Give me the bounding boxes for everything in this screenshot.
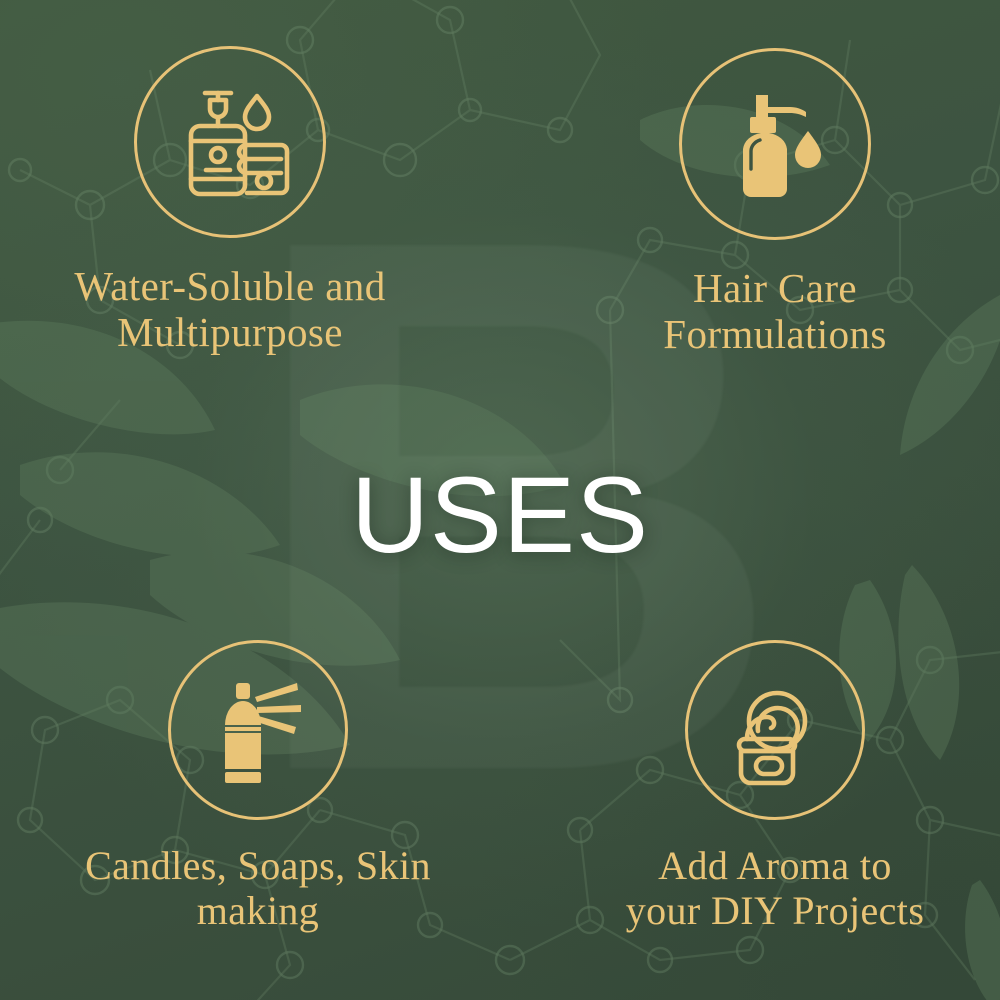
- use-item-candles-soaps-skin[interactable]: Candles, Soaps, Skin making: [28, 640, 488, 934]
- cream-jar-icon: [714, 669, 836, 791]
- use-item-diy-aroma[interactable]: Add Aroma to your DIY Projects: [545, 640, 1000, 934]
- use-item-label-water-soluble: Water-Soluble and Multipurpose: [74, 264, 385, 356]
- page-title: USES: [0, 452, 1000, 577]
- icon-badge-candles-soaps-skin: [168, 640, 348, 820]
- use-item-label-hair-care: Hair Care Formulations: [663, 266, 886, 358]
- pump-bottle-droplet-icon: [710, 79, 840, 209]
- use-item-water-soluble[interactable]: Water-Soluble and Multipurpose: [0, 46, 460, 356]
- use-item-label-candles-soaps-skin: Candles, Soaps, Skin making: [85, 844, 431, 934]
- use-item-label-diy-aroma: Add Aroma to your DIY Projects: [626, 844, 925, 934]
- spray-can-icon: [197, 669, 319, 791]
- icon-badge-water-soluble: [134, 46, 326, 238]
- use-item-hair-care[interactable]: Hair Care Formulations: [545, 48, 1000, 358]
- icon-badge-diy-aroma: [685, 640, 865, 820]
- lotion-bottle-and-jar-icon: [165, 77, 295, 207]
- infographic-canvas: B: [0, 0, 1000, 1000]
- icon-badge-hair-care: [679, 48, 871, 240]
